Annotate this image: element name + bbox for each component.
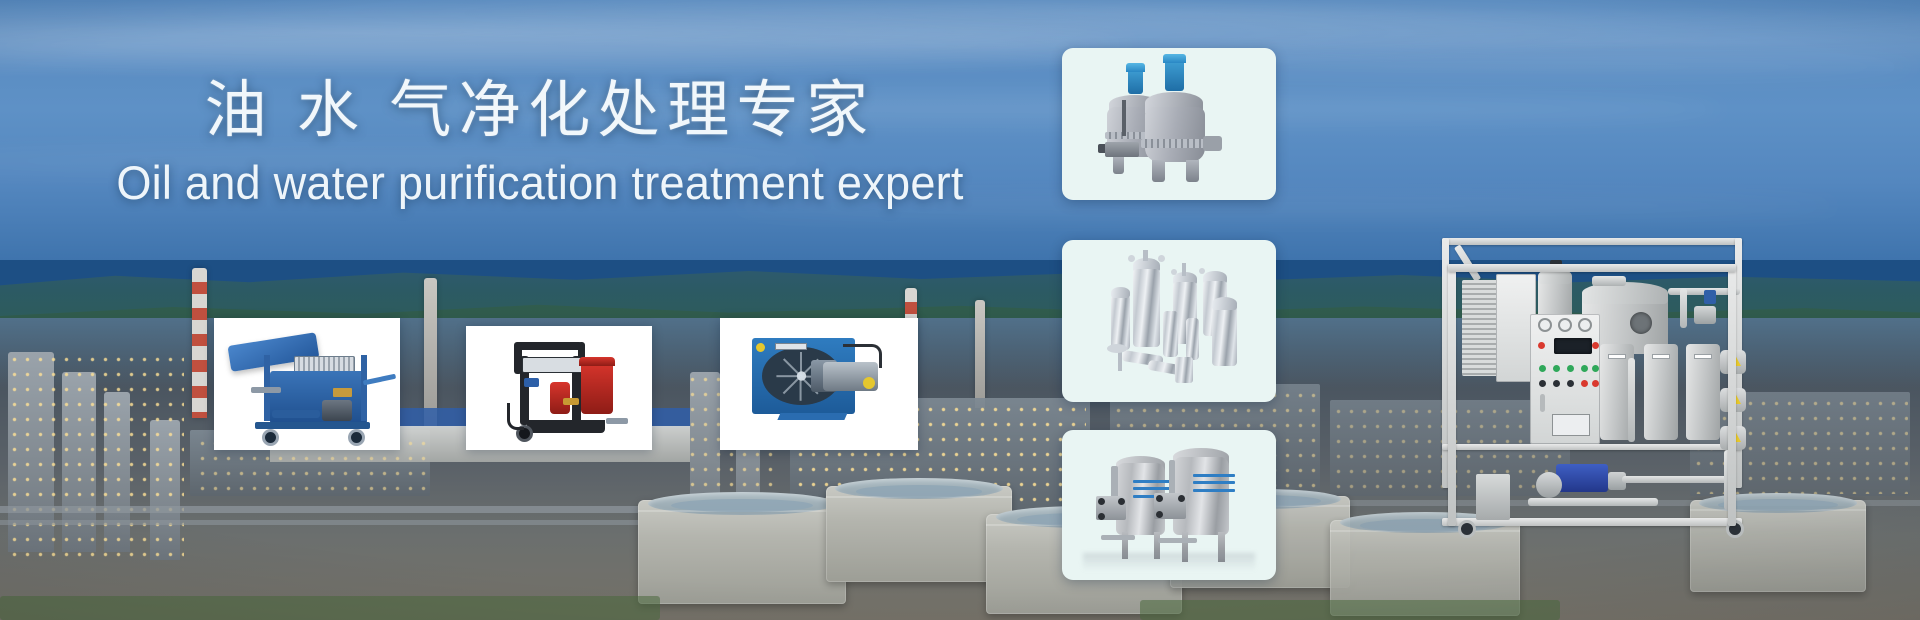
filter-press-illustration (214, 318, 400, 450)
right-tank-valve (1156, 495, 1163, 502)
filter-clamp (1128, 255, 1135, 262)
indicator-green[interactable] (1592, 365, 1599, 372)
left-tank-valve (1118, 498, 1125, 505)
chimney-stack (192, 268, 207, 418)
cooler-port-cap (863, 377, 875, 389)
pressure-gauge-1 (1538, 318, 1552, 332)
inlet-pipe (1628, 358, 1635, 442)
filter-housing-cap (579, 357, 614, 366)
cooler-nameplate (775, 343, 807, 350)
push-button-red[interactable] (1592, 380, 1599, 387)
cloud-band (0, 28, 1133, 62)
left-tank-stripe (1133, 480, 1172, 483)
filter-base-plate (1107, 344, 1127, 353)
fan-blade (800, 376, 802, 400)
right-tank-stripe (1193, 481, 1236, 484)
push-button-red[interactable] (1581, 380, 1588, 387)
discharge-pipe (1622, 476, 1732, 483)
right-tank-stripe (1193, 474, 1236, 477)
front-agitator-motor (1165, 60, 1184, 90)
base-support (1105, 142, 1139, 157)
chimney-stack (975, 300, 985, 408)
right-tank-manifold (1158, 538, 1197, 543)
vessel-label-2 (1652, 354, 1670, 359)
brass-valve (563, 398, 580, 405)
right-tank-valve (1178, 495, 1185, 502)
tank-rim (826, 496, 1012, 498)
filter-body-4 (1212, 305, 1238, 367)
filter-body-7 (1186, 318, 1199, 360)
fan-blade (783, 358, 801, 376)
fp-motor (322, 400, 352, 421)
pressure-gauge-2 (1558, 318, 1572, 332)
grass-strip (1140, 600, 1560, 620)
hero-banner: 油 水 气净化处理专家 Oil and water purification t… (0, 0, 1920, 620)
product-card-pressure-tanks[interactable] (1062, 430, 1276, 580)
indicator-green[interactable] (1539, 365, 1546, 372)
pipe-rack (0, 520, 700, 525)
front-vessel-leg-left (1152, 160, 1165, 181)
solenoid-valve (1704, 290, 1716, 304)
cooler-hose (843, 344, 883, 368)
frame-front-top-rail (1448, 264, 1736, 272)
frame-mid-rail (1442, 444, 1742, 450)
separator-top-flange (1592, 276, 1626, 286)
cart-outlet-nozzle (606, 418, 628, 424)
frame-post-front-right (1728, 264, 1736, 526)
product-card-oil-filter-cart[interactable] (466, 326, 652, 450)
product-card-stainless-filters[interactable] (1062, 240, 1276, 402)
cart-handle (514, 342, 585, 349)
filter-clamp (1158, 255, 1165, 262)
cloud-band (384, 96, 1728, 122)
fp-frame-right (361, 355, 367, 421)
indicator-green[interactable] (1553, 365, 1560, 372)
left-tank-valve (1098, 498, 1105, 505)
left-tank-valve (1098, 513, 1105, 520)
air-cooler-illustration (720, 318, 918, 450)
cart-hose (507, 403, 524, 430)
plant-lights (8, 352, 184, 558)
front-vessel-leg-right (1186, 160, 1199, 181)
product-card-reactor-vessels[interactable] (1062, 48, 1276, 200)
fp-handle (363, 374, 397, 386)
filter-housing-large (581, 362, 613, 414)
frame-post-front-left (1448, 264, 1456, 526)
cloud-band (730, 196, 1844, 216)
floor-reflection (1083, 553, 1254, 571)
front-vessel-flange (1141, 139, 1209, 148)
cooler-leg (778, 413, 848, 420)
tank-rim (638, 510, 846, 512)
connecting-pipe (1122, 100, 1126, 136)
front-motor-cap (1163, 54, 1187, 63)
product-card-filter-press[interactable] (214, 318, 400, 450)
filter-head-5 (1111, 287, 1130, 298)
filter-rod-2 (1182, 263, 1186, 276)
cart-tray (527, 420, 605, 432)
digital-display (1554, 338, 1592, 354)
top-riser (1680, 288, 1687, 328)
reactor-vessel-illustration (1062, 48, 1276, 200)
oil-storage-tank (638, 500, 846, 604)
electrical-box (1476, 474, 1510, 520)
cart-control-panel (522, 357, 585, 373)
indicator-green[interactable] (1567, 365, 1574, 372)
stainless-filter-illustration (1062, 240, 1276, 402)
machine-nameplate (1552, 414, 1590, 436)
fan-blade (777, 375, 801, 377)
filter-body-5 (1111, 295, 1130, 350)
rear-vessel-leg (1113, 156, 1124, 174)
filter-clamp (1199, 268, 1205, 274)
cooling-louver-panel (1462, 280, 1498, 376)
cloud-band (0, 150, 826, 172)
filter-body-6 (1163, 311, 1178, 356)
fp-wheel (348, 429, 365, 446)
fp-nameplate (333, 388, 352, 397)
fp-inlet-pipe (251, 387, 281, 394)
oil-storage-tank (826, 486, 1012, 582)
indicator-red[interactable] (1538, 342, 1545, 349)
cooler-lug (756, 343, 765, 352)
side-valve-assembly (1203, 136, 1222, 151)
fan-blade (783, 376, 801, 394)
inlet-valve (1694, 306, 1716, 324)
rear-motor-cap (1126, 63, 1145, 72)
chimney-stack (424, 278, 437, 428)
vessel-label-3 (1694, 354, 1712, 359)
push-button-dark[interactable] (1567, 380, 1574, 387)
left-tank-stripe (1133, 487, 1172, 490)
pressure-tank-illustration (1062, 430, 1276, 580)
grass-strip (0, 596, 660, 620)
separator-manhole (1630, 312, 1652, 334)
horizontal-filter-3 (1175, 357, 1192, 383)
front-vessel-body (1145, 107, 1205, 162)
caster-wheel-left (1458, 520, 1476, 538)
filter-body-1 (1133, 269, 1161, 347)
fp-wheel (262, 429, 279, 446)
rear-agitator-motor (1128, 69, 1143, 93)
cabinet-handle[interactable] (1540, 394, 1545, 412)
sky-background (0, 0, 1920, 260)
pump-motor (1556, 464, 1608, 492)
left-tank-manifold (1101, 535, 1135, 540)
filter-head-4 (1212, 297, 1238, 310)
vessel-label-1 (1608, 354, 1626, 359)
pressure-gauge-3 (1578, 318, 1592, 332)
pump-casing (1536, 472, 1562, 498)
cart-control-knob (524, 378, 539, 387)
frame-top-rail (1442, 238, 1742, 245)
filter-rod-1 (1143, 250, 1147, 261)
push-button-dark[interactable] (1553, 380, 1560, 387)
feature-machine-oil-purifier[interactable] (1432, 232, 1772, 572)
fp-drain-pipe (272, 410, 320, 418)
fp-base (255, 422, 370, 429)
right-tank-stripe (1193, 489, 1236, 492)
product-card-air-cooler[interactable] (720, 318, 918, 450)
indicator-red[interactable] (1592, 342, 1599, 349)
push-button-dark[interactable] (1539, 380, 1546, 387)
oil-filter-cart-illustration (466, 326, 652, 450)
indicator-green[interactable] (1581, 365, 1588, 372)
suction-pipe (1528, 498, 1658, 506)
